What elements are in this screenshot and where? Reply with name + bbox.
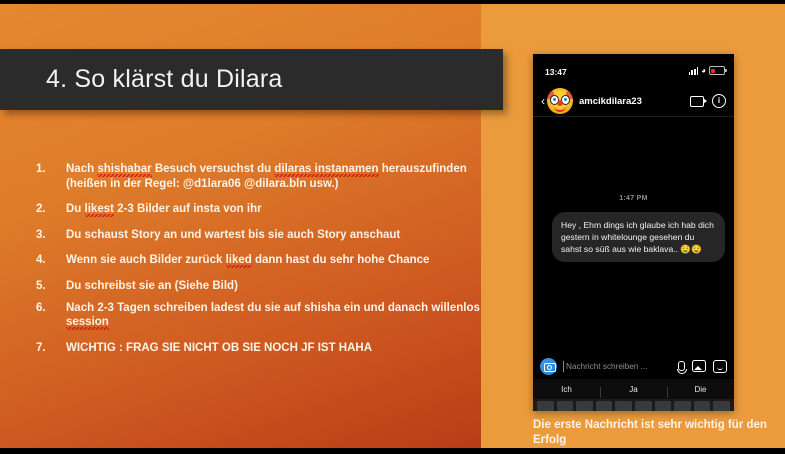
- slide-top-border: [0, 0, 785, 4]
- numbered-list: 1. Nach shishabar Besuch versuchst du di…: [36, 162, 481, 362]
- status-bar-time: 13:47: [545, 67, 567, 77]
- list-item: 3. Du schaust Story an und wartest bis s…: [36, 228, 481, 243]
- keyboard-sliver[interactable]: [533, 399, 734, 411]
- camera-circle-icon[interactable]: [540, 358, 557, 375]
- slide-bottom-border: [0, 448, 785, 454]
- list-item-text: Du likest 2-3 Bilder auf insta von ihr: [66, 202, 262, 217]
- list-item: 7. WICHTIG : FRAG SIE NICHT OB SIE NOCH …: [36, 341, 481, 356]
- list-item-number: 5.: [36, 279, 66, 294]
- message-bubble[interactable]: Hey , Ehm dings ich glaube ich hab dich …: [552, 212, 725, 262]
- chat-username[interactable]: amcikdilara23: [579, 96, 642, 107]
- list-item-number: 2.: [36, 202, 66, 217]
- list-item-number: 3.: [36, 228, 66, 243]
- list-item-number: 1.: [36, 162, 66, 191]
- message-timestamp: 1:47 PM: [542, 195, 725, 202]
- clown-emoji-avatar[interactable]: [547, 88, 573, 114]
- wifi-icon: ◕: [701, 67, 706, 75]
- battery-low-icon: [709, 66, 725, 75]
- sticker-icon[interactable]: [713, 360, 727, 373]
- back-chevron-icon[interactable]: ‹: [541, 95, 545, 107]
- image-icon[interactable]: [692, 360, 706, 372]
- list-item: 2. Du likest 2-3 Bilder auf insta von ih…: [36, 202, 481, 217]
- list-item-number: 7.: [36, 341, 66, 356]
- message-thread: 1:47 PM Hey , Ehm dings ich glaube ich h…: [533, 117, 734, 353]
- input-bar-actions: [678, 360, 727, 373]
- message-input-bar: Nachricht schreiben ...: [533, 353, 734, 379]
- list-item: 5. Du schreibst sie an (Siehe Bild): [36, 279, 481, 294]
- chat-header-actions: i: [690, 94, 726, 108]
- quick-reply-ich[interactable]: Ich: [533, 385, 600, 394]
- list-item: 1. Nach shishabar Besuch versuchst du di…: [36, 162, 481, 191]
- message-input[interactable]: Nachricht schreiben ...: [563, 362, 672, 371]
- microphone-icon[interactable]: [678, 361, 685, 371]
- quick-reply-ja[interactable]: Ja: [600, 385, 667, 394]
- list-item-text: Du schreibst sie an (Siehe Bild): [66, 279, 238, 294]
- phone-status-bar: 13:47 ◕: [533, 54, 734, 86]
- quick-reply-die[interactable]: Die: [667, 385, 734, 394]
- cellular-bars-icon: [689, 67, 698, 75]
- list-item-text: Wenn sie auch Bilder zurück liked dann h…: [66, 253, 429, 268]
- list-item-number: 6.: [36, 301, 66, 330]
- presentation-slide: 4. So klärst du Dilara 1. Nach shishabar…: [0, 4, 785, 448]
- list-item-number: 4.: [36, 253, 66, 268]
- chat-header: ‹ amcikdilara23 i: [533, 86, 734, 117]
- list-item-text: Nach 2-3 Tagen schreiben ladest du sie a…: [66, 301, 481, 330]
- video-camera-icon[interactable]: [690, 96, 704, 107]
- list-item-text: WICHTIG : FRAG SIE NICHT OB SIE NOCH JF …: [66, 341, 372, 356]
- list-item: 4. Wenn sie auch Bilder zurück liked dan…: [36, 253, 481, 268]
- info-circle-icon[interactable]: i: [712, 94, 726, 108]
- list-item-text: Nach shishabar Besuch versuchst du dilar…: [66, 162, 481, 191]
- status-bar-indicators: ◕: [689, 66, 725, 75]
- quick-reply-bar: Ich Ja Die: [533, 379, 734, 399]
- slide-title-bar: 4. So klärst du Dilara: [0, 49, 503, 110]
- slide-caption: Die erste Nachricht ist sehr wichtig für…: [533, 418, 773, 448]
- phone-screenshot: 13:47 ◕ ‹ amcikdilara23 i 1:47 PM Hey , …: [533, 54, 734, 411]
- page-title: 4. So klärst du Dilara: [46, 65, 282, 94]
- list-item: 6. Nach 2-3 Tagen schreiben ladest du si…: [36, 301, 481, 330]
- list-item-text: Du schaust Story an und wartest bis sie …: [66, 228, 400, 243]
